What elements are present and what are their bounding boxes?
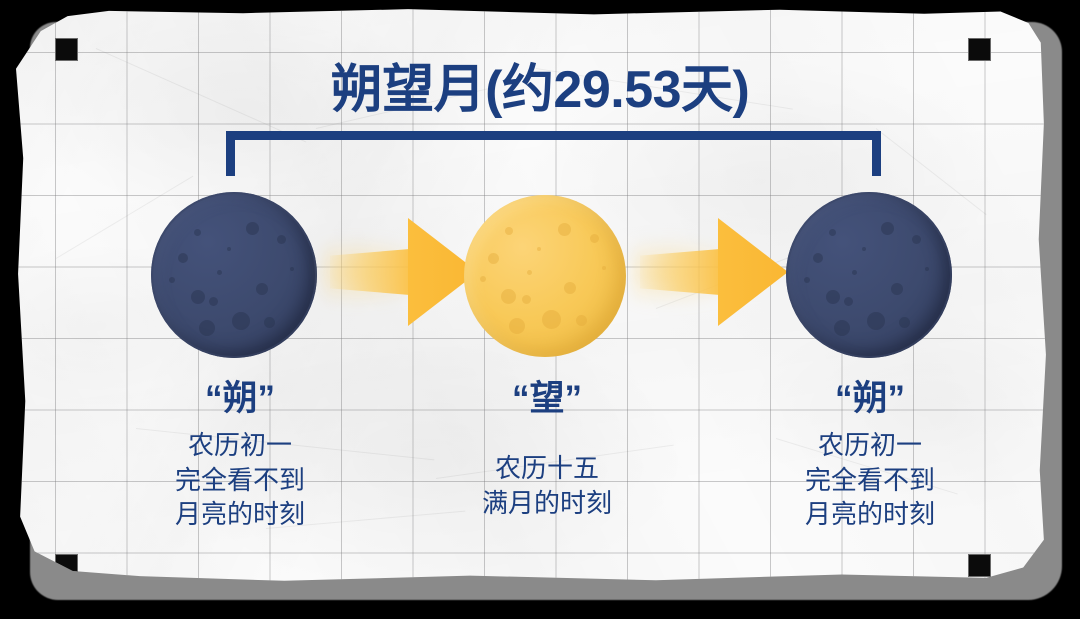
infographic-canvas: 朔望月(约29.53天) (0, 0, 1080, 619)
phase-description-line: 完全看不到 (760, 463, 980, 498)
phase-description: 农历初一 完全看不到 月亮的时刻 (130, 428, 350, 532)
page-title: 朔望月(约29.53天) (0, 47, 1080, 122)
moon-new-start-icon (151, 192, 317, 358)
bracket-leg-left (226, 131, 235, 176)
phase-keyword: “望” (442, 378, 652, 419)
moon-new-end-icon (786, 192, 952, 358)
bracket-leg-right (872, 131, 881, 176)
crater-group (464, 195, 626, 357)
phase-description: 农历十五 满月的时刻 (442, 451, 652, 520)
arrow-full-to-new-icon (640, 218, 788, 326)
lunation-span-bracket (226, 131, 881, 176)
bracket-bar (226, 131, 881, 140)
caption-full-moon: “望” 农历十五 满月的时刻 (442, 378, 652, 520)
phase-description: 农历初一 完全看不到 月亮的时刻 (760, 428, 980, 532)
phase-description-line: 农历初一 (760, 428, 980, 463)
phase-description-line: 农历十五 (442, 451, 652, 486)
phase-keyword: “朔” (760, 378, 980, 419)
phase-description-line: 农历初一 (130, 428, 350, 463)
arrow-head (718, 218, 788, 326)
arrow-new-to-full-icon (330, 218, 478, 326)
moon-rim (151, 192, 317, 358)
phase-description-line: 完全看不到 (130, 463, 350, 498)
moon-rim (786, 192, 952, 358)
corner-mark-bottom-right (968, 554, 991, 577)
caption-new-moon-start: “朔” 农历初一 完全看不到 月亮的时刻 (130, 378, 350, 532)
caption-new-moon-end: “朔” 农历初一 完全看不到 月亮的时刻 (760, 378, 980, 532)
phase-description-line: 月亮的时刻 (130, 497, 350, 532)
moon-full-icon (464, 195, 626, 357)
phase-keyword: “朔” (130, 378, 350, 419)
phase-description-line: 月亮的时刻 (760, 497, 980, 532)
phase-description-line: 满月的时刻 (442, 486, 652, 521)
